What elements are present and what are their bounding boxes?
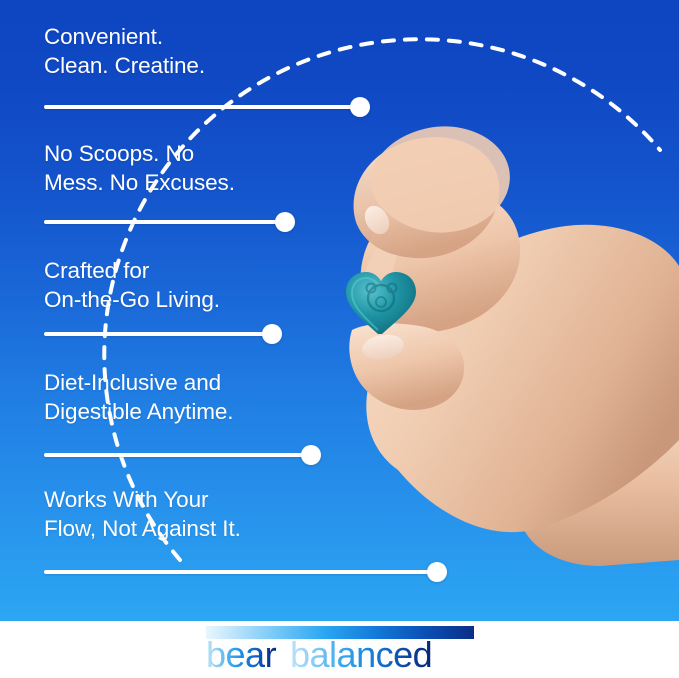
feature-block: Diet-Inclusive and Digestible Anytime.	[44, 368, 233, 426]
ring-finger	[371, 126, 510, 232]
feature-rule	[44, 105, 360, 109]
feature-text: No Scoops. No Mess. No Excuses.	[44, 139, 235, 197]
logo-word-balanced: balanced	[290, 637, 432, 674]
footer-bar: bear balanced	[0, 621, 679, 678]
index-fingernail	[360, 202, 394, 239]
creatine-gummy	[346, 272, 416, 334]
feature-dot	[275, 212, 295, 232]
logo-word-bear: bear	[206, 637, 277, 674]
arm-shape	[520, 418, 679, 566]
gradient-background: Convenient. Clean. Creatine. No Scoops. …	[0, 0, 679, 621]
feature-block: Crafted for On-the-Go Living.	[44, 256, 220, 314]
feature-text: Convenient. Clean. Creatine.	[44, 22, 205, 80]
feature-rule	[44, 453, 311, 457]
index-finger	[361, 189, 521, 332]
advertisement-creative: Convenient. Clean. Creatine. No Scoops. …	[0, 0, 679, 678]
middle-finger	[354, 137, 500, 258]
feature-rule	[44, 570, 437, 574]
feature-text: Diet-Inclusive and Digestible Anytime.	[44, 368, 233, 426]
feature-dot	[262, 324, 282, 344]
feature-block: No Scoops. No Mess. No Excuses.	[44, 139, 235, 197]
bear-emboss	[367, 284, 397, 312]
feature-rule	[44, 220, 285, 224]
feature-dot	[427, 562, 447, 582]
feature-rule	[44, 332, 272, 336]
thumb-shape	[349, 323, 464, 410]
feature-text: Crafted for On-the-Go Living.	[44, 256, 220, 314]
feature-dot	[301, 445, 321, 465]
thumbnail	[360, 332, 405, 362]
feature-text: Works With Your Flow, Not Against It.	[44, 485, 241, 543]
feature-block: Convenient. Clean. Creatine.	[44, 22, 205, 80]
brand-logo: bear balanced	[206, 626, 474, 674]
feature-dot	[350, 97, 370, 117]
palm-shape	[366, 225, 679, 532]
feature-block: Works With Your Flow, Not Against It.	[44, 485, 241, 543]
logo-wordmark: bear balanced	[206, 637, 474, 674]
